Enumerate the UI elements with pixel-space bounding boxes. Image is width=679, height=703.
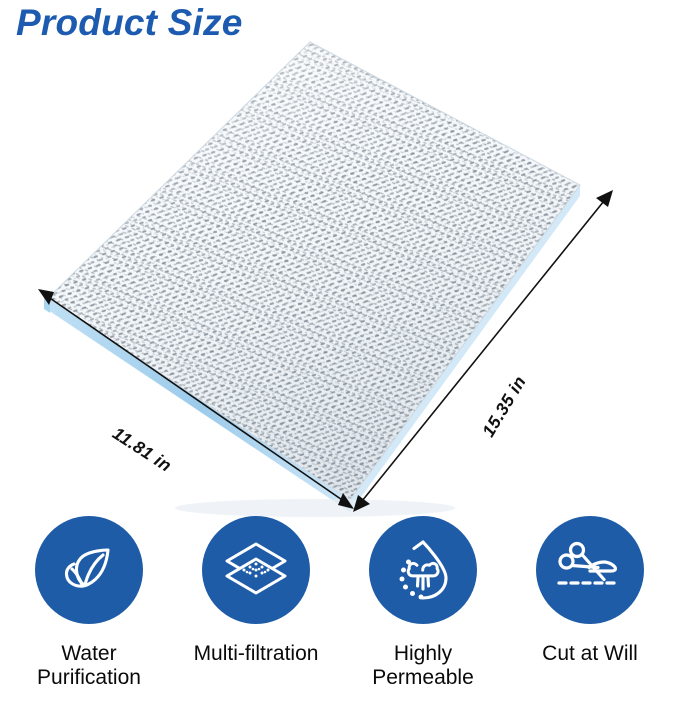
feature-cut-at-will: Cut at Will: [507, 516, 673, 666]
feature-water-purification: Water Purification: [6, 516, 172, 689]
feature-label: Water Purification: [37, 642, 141, 689]
feature-badge: [202, 516, 310, 624]
feature-label: Multi-filtration: [194, 642, 319, 666]
feature-badge: [369, 516, 477, 624]
feature-label: Cut at Will: [542, 642, 638, 666]
feature-highly-permeable: Highly Permeable: [340, 516, 506, 689]
feature-badge: [536, 516, 644, 624]
feature-list: Water Purification: [0, 516, 679, 703]
feature-badge: [35, 516, 143, 624]
leaves-icon: [58, 539, 120, 601]
water-droplet-airflow-icon: [392, 537, 454, 603]
feature-multi-filtration: Multi-filtration: [173, 516, 339, 666]
product-image: [0, 30, 679, 520]
scissors-cut-line-icon: [557, 541, 623, 599]
layers-stack-icon: [223, 539, 289, 601]
product-illustration: 11.81 in 15.35 in: [0, 30, 679, 520]
feature-label: Highly Permeable: [372, 642, 474, 689]
